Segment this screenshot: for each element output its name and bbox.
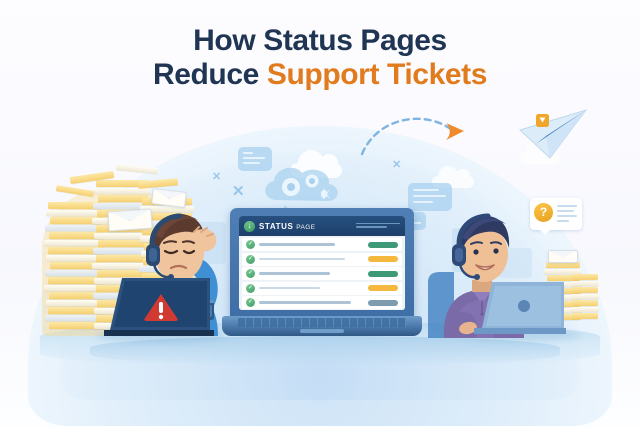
laptop-trackpad [300, 329, 344, 333]
status-badge [368, 242, 398, 248]
status-page-header: ↓ STATUS PAGE [239, 216, 405, 236]
x-mark-icon: ✕ [212, 170, 221, 183]
status-page-title: STATUS PAGE [259, 222, 315, 231]
status-page-screen[interactable]: ↓ STATUS PAGE ✓ ✓ [239, 216, 405, 310]
status-row[interactable]: ✓ [242, 282, 402, 295]
faq-card-lines [557, 205, 577, 225]
status-row[interactable]: ✓ [242, 253, 402, 266]
status-row-text [259, 242, 364, 248]
status-row[interactable]: ✓ [242, 238, 402, 251]
status-row-text [259, 271, 364, 277]
status-row-text [259, 256, 364, 262]
title-line-2: Reduce Support Tickets [0, 58, 640, 92]
status-row[interactable]: ✓ [242, 267, 402, 280]
illustration-canvas: How Status Pages Reduce Support Tickets … [0, 0, 640, 427]
status-page-rows: ✓ ✓ ✓ ✓ [239, 236, 405, 310]
check-circle-icon: ✓ [246, 298, 255, 307]
status-page-meta [356, 223, 400, 230]
check-circle-icon: ✓ [246, 255, 255, 264]
status-row[interactable]: ✓ [242, 296, 402, 309]
status-badge [368, 256, 398, 262]
laptop-keyboard [238, 318, 406, 327]
status-badge [368, 285, 398, 291]
title-line-2-highlight: Support Tickets [267, 58, 487, 91]
laptop-lid: ↓ STATUS PAGE ✓ ✓ [230, 208, 414, 318]
status-page-title-sub: PAGE [296, 224, 315, 231]
page-title: How Status Pages Reduce Support Tickets [0, 24, 640, 92]
status-page-title-main: STATUS [259, 222, 293, 231]
check-circle-icon: ✓ [246, 240, 255, 249]
envelope-icon [548, 250, 578, 263]
title-line-1: How Status Pages [0, 24, 640, 58]
check-circle-icon: ✓ [246, 269, 255, 278]
status-badge [368, 271, 398, 277]
left-laptop [104, 272, 214, 336]
paper-plane-icon [516, 108, 592, 169]
title-line-2-prefix: Reduce [153, 58, 267, 91]
status-badge [368, 300, 398, 306]
flow-arc [360, 108, 470, 163]
right-laptop [470, 278, 566, 334]
status-page-laptop: ↓ STATUS PAGE ✓ ✓ [222, 208, 422, 344]
status-check-icon: ↓ [244, 221, 255, 232]
status-row-text [259, 300, 364, 306]
status-row-text [259, 285, 364, 291]
check-circle-icon: ✓ [246, 284, 255, 293]
